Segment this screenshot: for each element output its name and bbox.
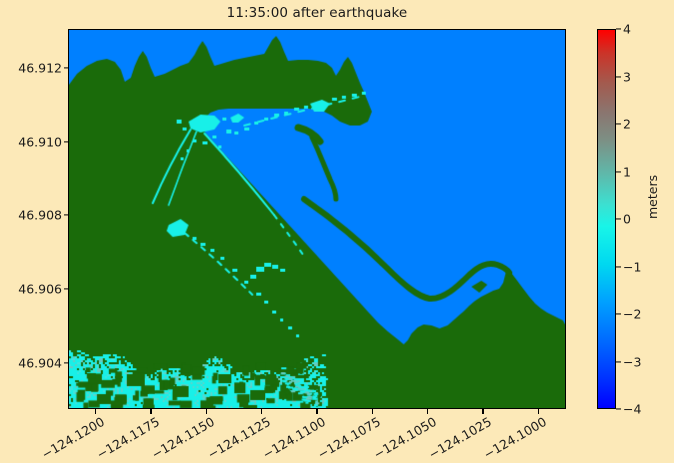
colorbar-tick-mark — [616, 218, 621, 219]
colorbar-tick-mark — [616, 266, 621, 267]
colorbar-tick-mark — [616, 171, 621, 172]
colorbar-tick-mark — [616, 408, 621, 409]
colorbar-tick-label: −1 — [623, 259, 641, 274]
colorbar-label: meters — [645, 175, 660, 219]
x-tick-mark — [206, 409, 207, 414]
y-tick-mark — [64, 362, 69, 363]
colorbar-tick-label: 1 — [623, 164, 631, 179]
colorbar-gradient — [597, 29, 616, 409]
colorbar-tick-label: −2 — [623, 307, 641, 322]
colorbar-tick-label: 4 — [623, 22, 631, 37]
y-tick-label: 46.906 — [0, 282, 62, 297]
colorbar-tick-label: 0 — [623, 212, 631, 227]
y-tick-label: 46.908 — [0, 208, 62, 223]
inundation-heatmap — [69, 30, 565, 408]
y-tick-mark — [64, 289, 69, 290]
y-tick-label: 46.904 — [0, 355, 62, 370]
colorbar-tick-mark — [616, 313, 621, 314]
x-tick-mark — [482, 409, 483, 414]
y-tick-mark — [64, 67, 69, 68]
y-tick-mark — [64, 215, 69, 216]
x-tick-mark — [261, 409, 262, 414]
colorbar-tick-label: 3 — [623, 69, 631, 84]
figure-canvas: 11:35:00 after earthquake 46.90446.90646… — [0, 0, 674, 463]
colorbar-tick-mark — [616, 123, 621, 124]
colorbar-tick-label: 2 — [623, 117, 631, 132]
colorbar-tick-mark — [616, 28, 621, 29]
x-tick-mark — [95, 409, 96, 414]
colorbar-tick-label: −3 — [623, 354, 641, 369]
map-axes[interactable] — [68, 29, 566, 409]
colorbar-tick-mark — [616, 361, 621, 362]
x-tick-mark — [150, 409, 151, 414]
y-tick-mark — [64, 141, 69, 142]
page-title: 11:35:00 after earthquake — [68, 5, 566, 21]
y-tick-label: 46.910 — [0, 134, 62, 149]
x-tick-mark — [316, 409, 317, 414]
x-tick-label: −124.1200 — [38, 416, 103, 462]
colorbar-tick-mark — [616, 76, 621, 77]
x-tick-mark — [538, 409, 539, 414]
y-tick-label: 46.912 — [0, 60, 62, 75]
x-tick-mark — [372, 409, 373, 414]
x-tick-mark — [427, 409, 428, 414]
colorbar-tick-label: −4 — [623, 402, 641, 417]
